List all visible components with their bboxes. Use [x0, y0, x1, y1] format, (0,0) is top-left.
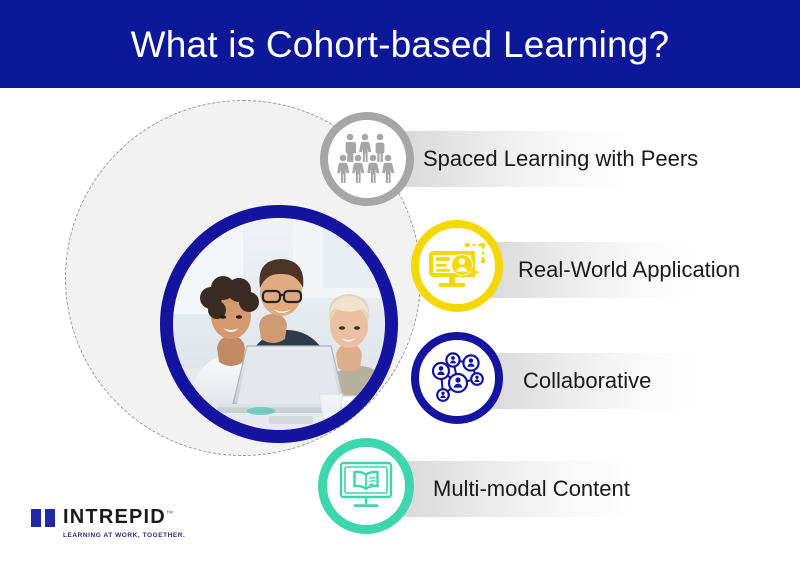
people-network-icon — [427, 349, 487, 407]
feature-icon-real-world-application[interactable] — [411, 220, 503, 312]
office-team-photo-illustration — [173, 218, 385, 430]
center-photo — [173, 218, 385, 430]
brand-logo[interactable]: INTREPID™ LEARNING AT WORK, TOGETHER. — [31, 507, 185, 539]
monitor-user-cursor-icon — [427, 239, 487, 293]
header-banner: What is Cohort-based Learning? — [0, 0, 800, 88]
logo-text-group: INTREPID™ LEARNING AT WORK, TOGETHER. — [63, 507, 185, 539]
feature-label-spaced-learning: Spaced Learning with Peers — [423, 146, 698, 172]
feature-icon-collaborative[interactable] — [411, 332, 503, 424]
feature-label-real-world-application: Real-World Application — [518, 257, 740, 283]
feature-icon-multi-modal-content[interactable] — [318, 438, 414, 534]
logo-tagline: LEARNING AT WORK, TOGETHER. — [63, 532, 185, 539]
feature-label-collaborative: Collaborative — [523, 368, 651, 394]
group-of-people-icon — [336, 131, 398, 187]
monitor-book-icon — [336, 460, 396, 512]
center-photo-ring — [160, 205, 398, 443]
logo-wordmark-text: INTREPID — [63, 506, 166, 528]
intrepid-logo-mark-icon — [31, 509, 55, 527]
infographic-canvas: What is Cohort-based Learning? Spaced Le… — [0, 0, 800, 561]
page-title: What is Cohort-based Learning? — [131, 26, 670, 63]
feature-label-multi-modal-content: Multi-modal Content — [433, 476, 630, 502]
feature-icon-spaced-learning[interactable] — [320, 112, 414, 206]
logo-trademark-symbol: ™ — [166, 510, 174, 517]
logo-wordmark: INTREPID™ — [63, 507, 174, 527]
